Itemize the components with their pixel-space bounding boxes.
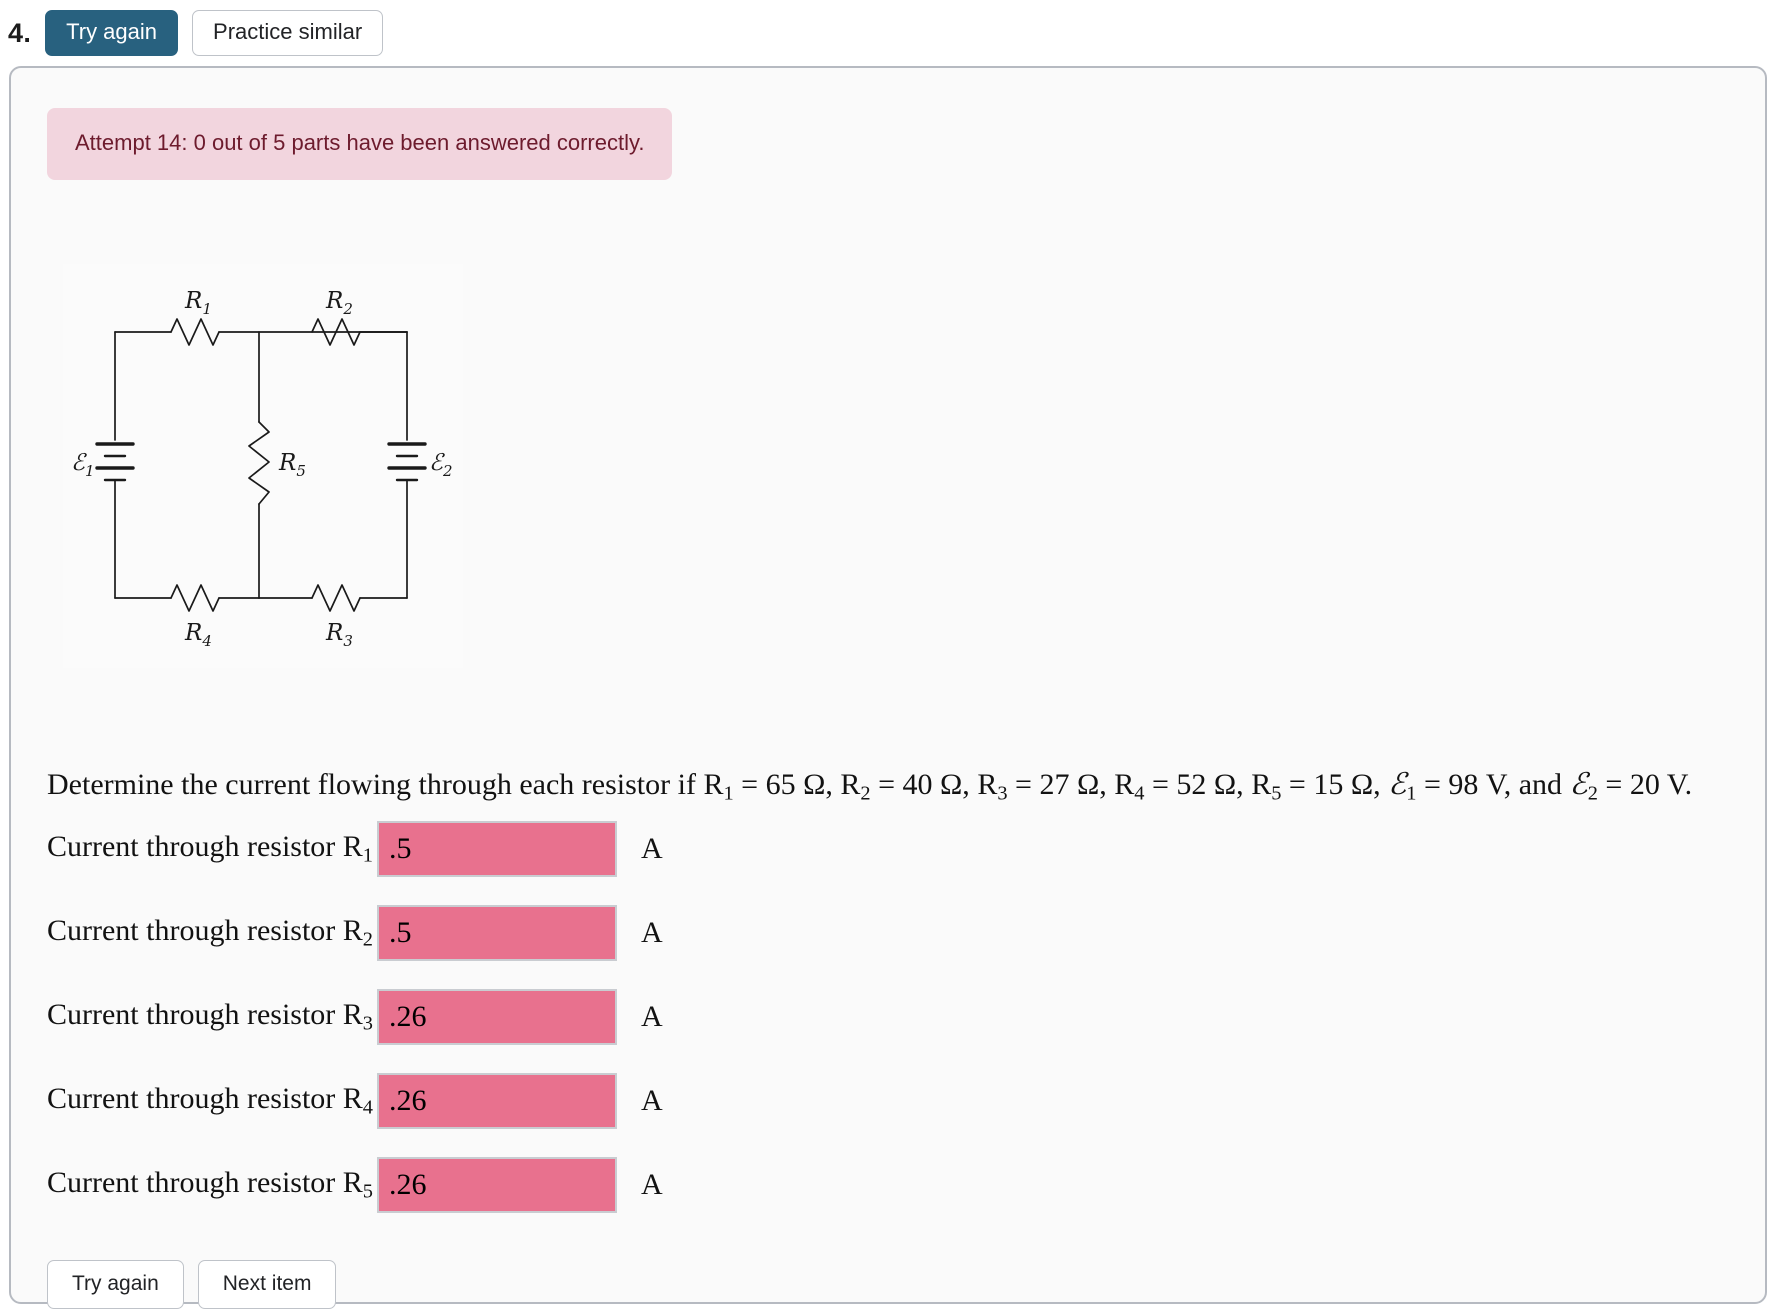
question-card: Attempt 14: 0 out of 5 parts have been a… [9, 66, 1767, 1304]
try-again-button-top[interactable]: Try again [45, 10, 178, 56]
prompt-r4-value: = 52 Ω, [1144, 768, 1251, 801]
answer-label-sub: 3 [363, 1013, 373, 1035]
prompt-r2-sub: 2 [860, 783, 870, 805]
prompt-r3-symbol: R [977, 768, 997, 801]
question-number: 4. [8, 18, 31, 49]
answer-row: Current through resistor R3 = A [47, 980, 1047, 1054]
try-again-button-bottom[interactable]: Try again [47, 1260, 184, 1309]
exercise-page: 4. Try again Practice similar Attempt 14… [0, 0, 1776, 1314]
answer-label-sub: 5 [363, 1181, 373, 1203]
answer-label-sub: 4 [363, 1097, 373, 1119]
circuit-diagram-svg: R1 R2 R4 R3 R5 ℰ1 ℰ2 [63, 264, 463, 668]
prompt-r3-value: = 27 Ω, [1008, 768, 1115, 801]
prompt-emf1-value: = 98 V, and [1417, 768, 1570, 801]
answer-label-prefix: Current through resistor R [47, 1082, 363, 1115]
prompt-r2-symbol: R [840, 768, 860, 801]
prompt-r5-sub: 5 [1271, 783, 1281, 805]
answer-label-r3: Current through resistor R3 = [47, 998, 377, 1036]
prompt-emf1-sub: 1 [1406, 783, 1416, 805]
answer-input-r4[interactable] [377, 1073, 617, 1129]
prompt-lead: Determine the current flowing through ea… [47, 768, 723, 801]
next-item-button[interactable]: Next item [198, 1260, 337, 1309]
answer-label-r2: Current through resistor R2 = [47, 914, 377, 952]
answer-list: Current through resistor R1 = A Current … [47, 812, 1047, 1232]
answer-input-r3[interactable] [377, 989, 617, 1045]
prompt-emf1-symbol: ℰ [1388, 767, 1406, 802]
answer-label-sub: 1 [363, 845, 373, 867]
circuit-diagram: R1 R2 R4 R3 R5 ℰ1 ℰ2 [63, 264, 463, 668]
answer-unit-r4: A [641, 1084, 663, 1118]
prompt-r1-sub: 1 [723, 783, 733, 805]
prompt-r4-sub: 4 [1134, 783, 1144, 805]
prompt-r4-symbol: R [1114, 768, 1134, 801]
prompt-emf2-value: = 20 V. [1598, 768, 1692, 801]
answer-row: Current through resistor R4 = A [47, 1064, 1047, 1138]
answer-unit-r1: A [641, 832, 663, 866]
answer-label-sub: 2 [363, 929, 373, 951]
answer-row: Current through resistor R2 = A [47, 896, 1047, 970]
answer-row: Current through resistor R1 = A [47, 812, 1047, 886]
question-toolbar: 4. Try again Practice similar [0, 0, 1776, 66]
answer-label-r4: Current through resistor R4 = [47, 1082, 377, 1120]
answer-label-prefix: Current through resistor R [47, 1166, 363, 1199]
answer-row: Current through resistor R5 = A [47, 1148, 1047, 1222]
answer-input-r1[interactable] [377, 821, 617, 877]
answer-input-r5[interactable] [377, 1157, 617, 1213]
prompt-r5-value: = 15 Ω, [1281, 768, 1388, 801]
answer-label-prefix: Current through resistor R [47, 998, 363, 1031]
answer-input-r2[interactable] [377, 905, 617, 961]
card-footer: Try again Next item [47, 1260, 336, 1309]
answer-label-prefix: Current through resistor R [47, 914, 363, 947]
answer-label-prefix: Current through resistor R [47, 830, 363, 863]
answer-unit-r5: A [641, 1168, 663, 1202]
prompt-r1-value: = 65 Ω, [734, 768, 841, 801]
prompt-emf2-sub: 2 [1588, 783, 1598, 805]
question-prompt: Determine the current flowing through ea… [47, 768, 1747, 806]
prompt-r3-sub: 3 [997, 783, 1007, 805]
practice-similar-button[interactable]: Practice similar [192, 10, 383, 56]
answer-unit-r3: A [641, 1000, 663, 1034]
prompt-r5-symbol: R [1251, 768, 1271, 801]
prompt-emf2-symbol: ℰ [1570, 767, 1588, 802]
prompt-r2-value: = 40 Ω, [871, 768, 978, 801]
answer-unit-r2: A [641, 916, 663, 950]
answer-label-r5: Current through resistor R5 = [47, 1166, 377, 1204]
answer-label-r1: Current through resistor R1 = [47, 830, 377, 868]
attempt-status-banner: Attempt 14: 0 out of 5 parts have been a… [47, 108, 672, 180]
